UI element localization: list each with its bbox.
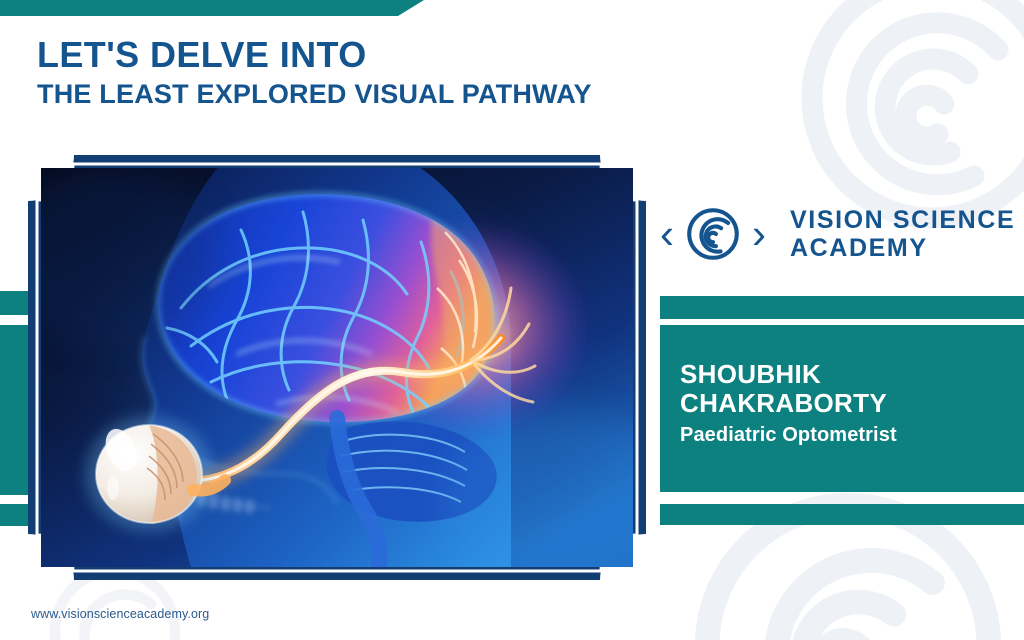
speaker-name-line-2: CHAKRABORTY [680, 389, 1014, 418]
speaker-info-block: SHOUBHIK CHAKRABORTY Paediatric Optometr… [660, 325, 1024, 492]
logo-wordmark: VISION SCIENCE ACADEMY [790, 206, 1015, 262]
top-accent-band [0, 0, 424, 16]
logo-wordmark-line-2: ACADEMY [790, 234, 1015, 262]
spiral-eye-fingerprint-icon [684, 205, 742, 263]
spiral-logo-watermark-bottom-right [672, 470, 1024, 640]
vision-science-academy-logo: ‹ › VISION SCIENCE ACADEMY [660, 205, 1015, 263]
speaker-role: Paediatric Optometrist [680, 423, 1014, 447]
speaker-name-line-1: SHOUBHIK [680, 360, 1014, 389]
poster-canvas: LET'S DELVE INTO THE LEAST EXPLORED VISU… [0, 0, 1024, 640]
brain-visual-pathway-illustration [41, 168, 633, 567]
headline: LET'S DELVE INTO THE LEAST EXPLORED VISU… [37, 36, 717, 109]
headline-line-2: THE LEAST EXPLORED VISUAL PATHWAY [37, 79, 717, 109]
right-teal-bar-top [660, 296, 1024, 319]
illustration-viewport [41, 168, 633, 567]
website-url[interactable]: www.visionscienceacademy.org [31, 607, 209, 621]
logo-wordmark-line-1: VISION SCIENCE [790, 206, 1015, 234]
right-teal-bar-bottom [660, 504, 1024, 525]
chevron-right-icon: › [752, 213, 766, 255]
chevron-left-icon: ‹ [660, 213, 674, 255]
image-frame [28, 155, 646, 580]
headline-line-1: LET'S DELVE INTO [37, 36, 717, 74]
